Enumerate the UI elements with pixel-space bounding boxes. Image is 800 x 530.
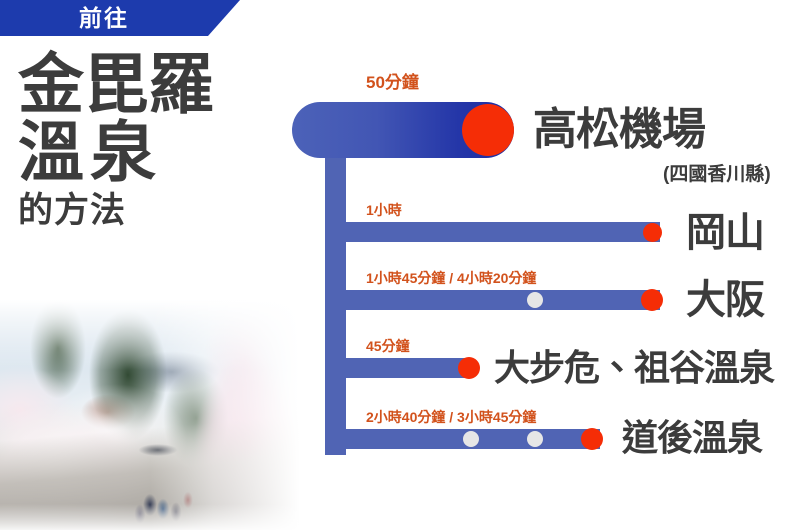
route-bar-oboke-iya-onsen [325, 358, 473, 378]
route-duration-okayama: 1小時 [366, 203, 402, 217]
route-duration-osaka: 1小時45分鐘 / 4小時20分鐘 [366, 271, 536, 285]
route-transfer-dot-osaka-1 [527, 292, 543, 308]
route-destination-dogo-onsen: 道後溫泉 [622, 420, 762, 456]
title-line-2: 溫泉 [18, 120, 213, 184]
route-transfer-dot-dogo-onsen-2 [527, 431, 543, 447]
header-ribbon: 前往 [0, 0, 240, 36]
route-endpoint-dot-takamatsu-airport [462, 104, 514, 156]
route-bar-okayama [325, 222, 660, 242]
route-destination-okayama: 岡山 [686, 213, 764, 253]
title-line-1: 金毘羅 [18, 52, 213, 116]
ribbon-label: 前往 [0, 0, 208, 36]
route-endpoint-dot-dogo-onsen [581, 428, 603, 450]
route-duration-takamatsu-airport: 50分鐘 [366, 74, 419, 91]
route-destination-takamatsu-airport: 高松機場 [533, 108, 705, 152]
route-endpoint-dot-okayama [643, 223, 662, 242]
title-line-3: 的方法 [18, 194, 213, 228]
route-endpoint-dot-oboke-iya-onsen [458, 357, 480, 379]
route-destination-oboke-iya-onsen: 大步危、祖谷溫泉 [494, 350, 774, 386]
infographic-root: 前往 金毘羅 溫泉 的方法 50分鐘 高松機場 (四國香川縣) 1小時 岡山 1… [0, 0, 800, 530]
route-duration-oboke-iya-onsen: 45分鐘 [366, 339, 410, 353]
route-endpoint-dot-osaka [641, 289, 663, 311]
route-destination-sub-takamatsu-airport: (四國香川縣) [663, 165, 771, 184]
route-bar-osaka [325, 290, 660, 310]
route-destination-osaka: 大阪 [686, 280, 764, 320]
page-title: 金毘羅 溫泉 的方法 [18, 52, 213, 228]
route-duration-dogo-onsen: 2小時40分鐘 / 3小時45分鐘 [366, 410, 536, 424]
route-transfer-dot-dogo-onsen-1 [463, 431, 479, 447]
